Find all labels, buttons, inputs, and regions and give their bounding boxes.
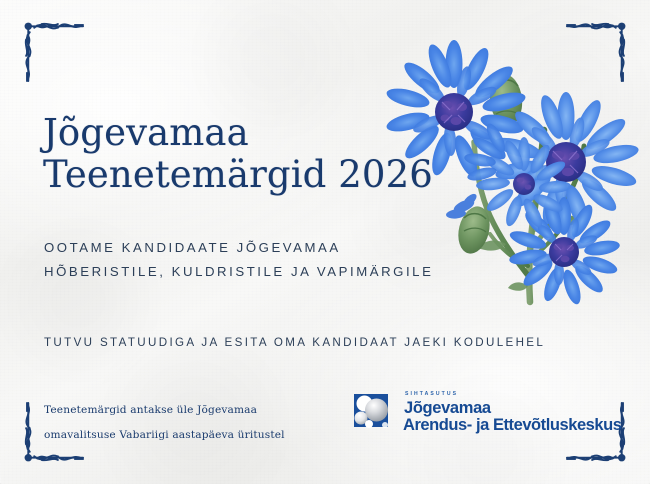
organization-logo[interactable]: SIHTASUTUS Jõgevamaa Arendus- ja Ettevõt… <box>352 391 621 435</box>
poster-title: Jõgevamaa Teenetemärgid 2026 <box>43 112 433 196</box>
poster-subtitle: OOTAME KANDIDAATE JÕGEVAMAA HÕBERISTILE,… <box>44 236 433 285</box>
poster-canvas: Jõgevamaa Teenetemärgid 2026 OOTAME KAND… <box>0 0 650 484</box>
logo-eyebrow: SIHTASUTUS <box>405 392 621 397</box>
poster-footnote: Teenetemärgid antakse üle Jõgevamaa omav… <box>44 398 285 448</box>
jaek-logo-mark-icon <box>352 391 396 435</box>
logo-wordmark: SIHTASUTUS Jõgevamaa Arendus- ja Ettevõt… <box>403 392 621 433</box>
logo-line-1: Jõgevamaa <box>404 400 621 417</box>
logo-line-2: Arendus- ja Ettevõtluskeskus <box>403 417 621 434</box>
poster-call-to-action: TUTVU STATUUDIGA JA ESITA OMA KANDIDAAT … <box>44 336 545 349</box>
